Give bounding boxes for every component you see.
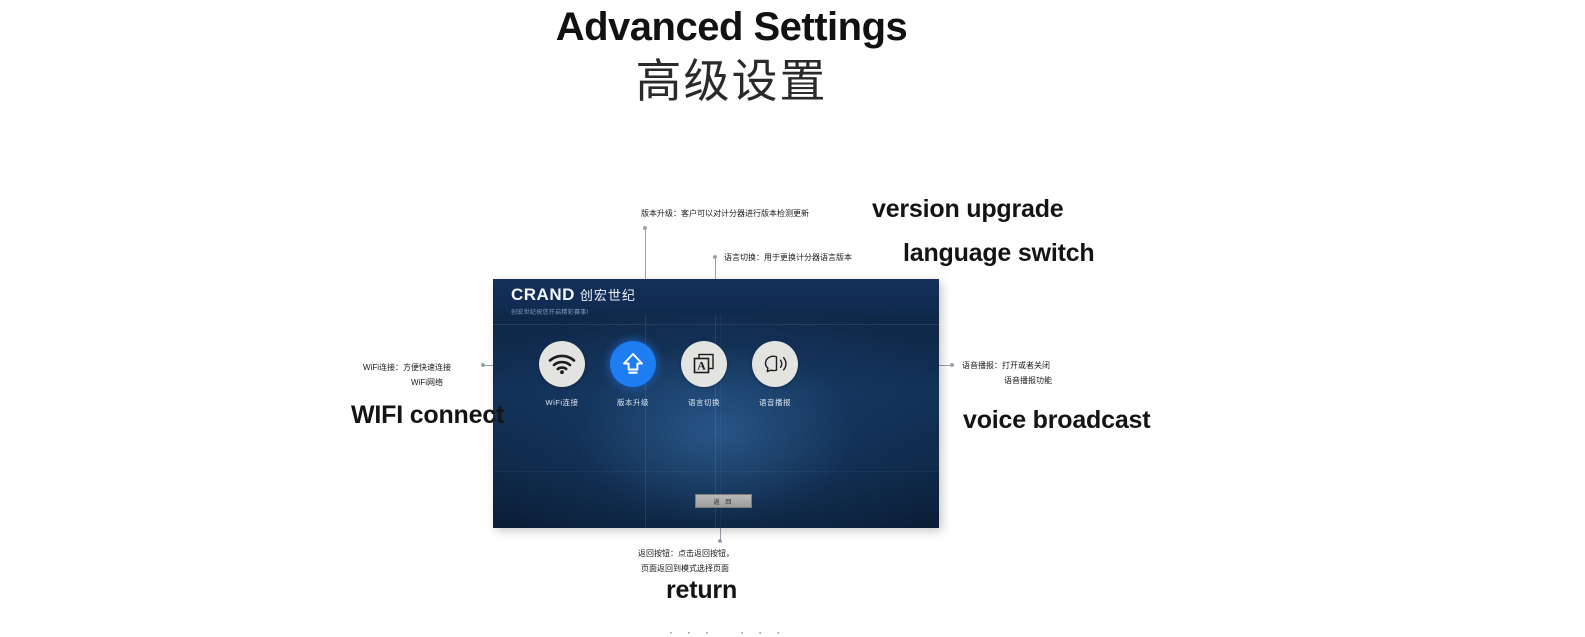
- annotation-wifi-connect-english: WIFI connect: [351, 401, 504, 430]
- settings-label-language-switch: 语言切换: [688, 397, 720, 408]
- settings-item-voice-broadcast[interactable]: 语音播报: [752, 341, 798, 408]
- brand-name-english: CRAND: [511, 285, 575, 305]
- settings-label-version-upgrade: 版本升级: [617, 397, 649, 408]
- annotation-return-chinese-line2: 页面返回到模式选择页面: [641, 561, 729, 576]
- letter-a-box-icon-circle[interactable]: A: [681, 341, 727, 387]
- annotation-wifi-connect-chinese-line2: WiFi网络: [411, 375, 443, 390]
- up-arrow-icon-circle[interactable]: [610, 341, 656, 387]
- page-title-english: Advanced Settings: [0, 2, 1463, 52]
- settings-item-wifi-connect[interactable]: WiFi连接: [539, 341, 585, 408]
- brand-tagline: 创宏世纪祝您开启精彩赛事!: [511, 307, 636, 316]
- settings-label-voice-broadcast: 语音播报: [759, 397, 791, 408]
- settings-icon-row: WiFi连接 版本升级 A 语言切换: [539, 341, 893, 408]
- annotation-version-upgrade-english: version upgrade: [872, 195, 1064, 224]
- annotation-return-english: return: [666, 576, 737, 605]
- annotation-voice-broadcast-english: voice broadcast: [963, 406, 1150, 435]
- wifi-icon: [548, 353, 576, 375]
- annotation-voice-broadcast-chinese-line1: 语音播报：打开或者关闭: [962, 358, 1050, 373]
- bottom-clipped-text: ··· ···: [0, 625, 1463, 637]
- settings-item-version-upgrade[interactable]: 版本升级: [610, 341, 656, 408]
- letter-a-box-icon: A: [691, 351, 717, 377]
- settings-label-wifi-connect: WiFi连接: [546, 397, 579, 408]
- annotation-language-switch-chinese: 语言切换：用于更换计分器语言版本: [724, 250, 852, 265]
- wifi-icon-circle[interactable]: [539, 341, 585, 387]
- up-arrow-icon: [621, 351, 645, 377]
- annotation-wifi-connect-chinese-line1: WiFi连接：方便快速连接: [363, 360, 451, 375]
- settings-item-language-switch[interactable]: A 语言切换: [681, 341, 727, 408]
- page-title-block: Advanced Settings 高级设置: [0, 2, 1463, 110]
- speaking-head-icon-circle[interactable]: [752, 341, 798, 387]
- annotation-voice-broadcast-chinese-line2: 语音播报功能: [1004, 373, 1052, 388]
- annotation-language-switch-english: language switch: [903, 239, 1094, 268]
- leader-dot-voice-broadcast: [950, 363, 954, 367]
- panel-gridline-horizontal: [493, 324, 939, 325]
- annotation-return-chinese-line1: 返回按钮：点击返回按钮，: [638, 546, 734, 561]
- panel-gridline-horizontal: [493, 471, 939, 472]
- device-screen-panel[interactable]: CRAND 创宏世纪 创宏世纪祝您开启精彩赛事! WiFi连接: [493, 279, 939, 528]
- brand-logo: CRAND 创宏世纪 创宏世纪祝您开启精彩赛事!: [511, 285, 636, 316]
- svg-text:A: A: [697, 359, 706, 373]
- speaking-head-icon: [760, 352, 790, 376]
- return-button[interactable]: 返 回: [695, 494, 752, 508]
- leader-dot-return: [718, 539, 722, 543]
- brand-name-chinese: 创宏世纪: [580, 285, 636, 304]
- page-title-chinese: 高级设置: [0, 52, 1463, 110]
- annotation-version-upgrade-chinese: 版本升级：客户可以对计分器进行版本检测更新: [641, 206, 809, 221]
